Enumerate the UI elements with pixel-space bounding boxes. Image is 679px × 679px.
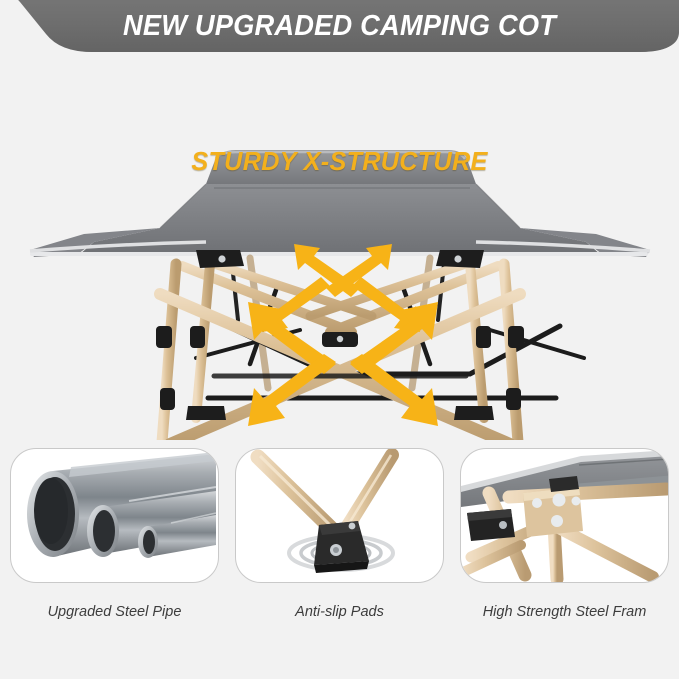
anti-slip-pad-icon <box>236 449 444 583</box>
feature-panel-label: High Strength Steel Fram <box>460 604 669 620</box>
feature-panel-label: Anti-slip Pads <box>235 604 444 620</box>
feature-panels: Upgraded Steel Pipe <box>0 448 679 679</box>
feature-panel-steel-frame[interactable]: High Strength Steel Fram <box>460 448 669 620</box>
feature-panel-anti-slip-pads[interactable]: Anti-slip Pads <box>235 448 444 620</box>
feature-panel-image <box>10 448 219 583</box>
header-banner: NEW UPGRADED CAMPING COT <box>0 0 679 58</box>
cot-foot-pad <box>454 406 494 420</box>
feature-panel-steel-pipe[interactable]: Upgraded Steel Pipe <box>10 448 219 620</box>
steel-frame-icon <box>461 449 669 583</box>
hero-overlay-text: STURDY X-STRUCTURE <box>10 146 669 177</box>
feature-panel-label: Upgraded Steel Pipe <box>10 604 219 620</box>
cot-foot-pad <box>186 406 226 420</box>
feature-panel-image <box>460 448 669 583</box>
feature-panel-image <box>235 448 444 583</box>
product-hero-image: STURDY X-STRUCTURE <box>0 58 679 440</box>
steel-pipe-icon <box>11 449 219 583</box>
page-title: NEW UPGRADED CAMPING COT <box>20 0 658 52</box>
camping-cot-illustration <box>0 58 679 440</box>
